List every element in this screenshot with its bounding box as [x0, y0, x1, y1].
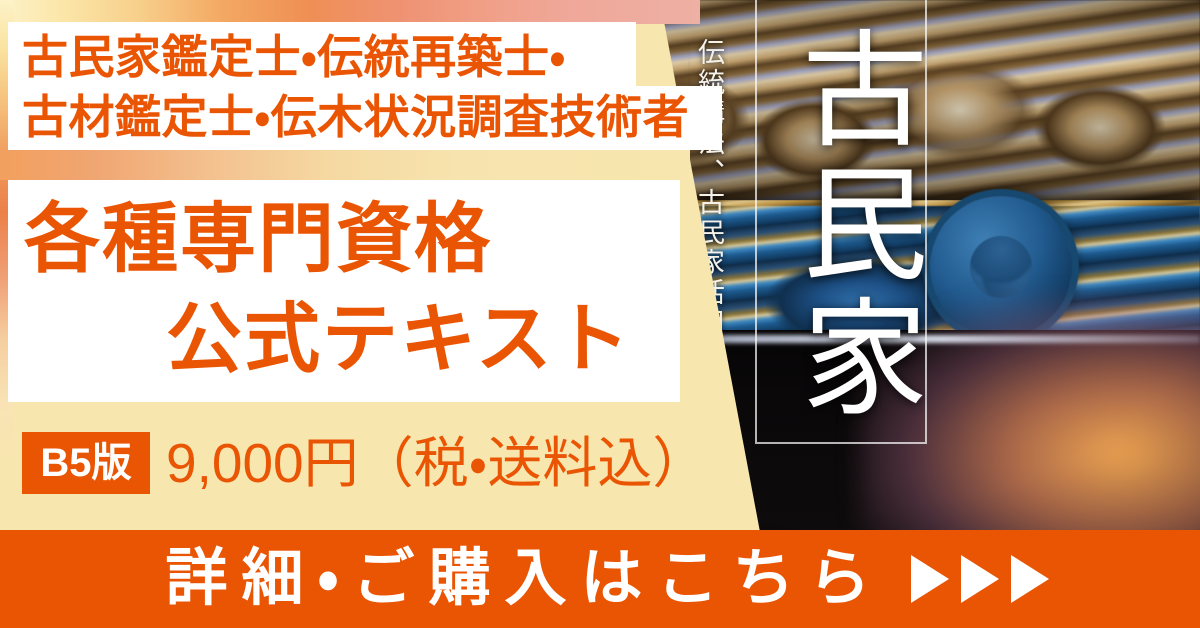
certifications-line-2: 古材鑑定士・伝木状況調査技術者 [22, 88, 689, 146]
play-arrow-icon [961, 555, 999, 603]
middle-gradient-strip [0, 150, 690, 180]
book-title: 古民家 [755, 10, 923, 440]
price-text: 9,000円（税・送料込） [166, 430, 707, 496]
promo-banner: 伝統構法、古民家活用のための調査と再生の 古民家 古民家鑑定士・伝統再築士・ 古… [0, 0, 1200, 628]
top-gradient-strip [0, 0, 700, 24]
headline-line-2: 公式テキスト [166, 292, 632, 388]
headline-line-1: 各種専門資格 [24, 192, 492, 288]
cta-label: 詳細・ご購入はこちら [151, 530, 884, 628]
play-arrow-icon [1011, 555, 1049, 603]
cta-bar[interactable]: 詳細・ご購入はこちら [0, 530, 1200, 628]
certifications-line-1: 古民家鑑定士・伝統再築士・ [22, 28, 566, 86]
cta-arrows [911, 555, 1049, 603]
play-arrow-icon [911, 555, 949, 603]
format-badge: B5版 [22, 432, 150, 494]
